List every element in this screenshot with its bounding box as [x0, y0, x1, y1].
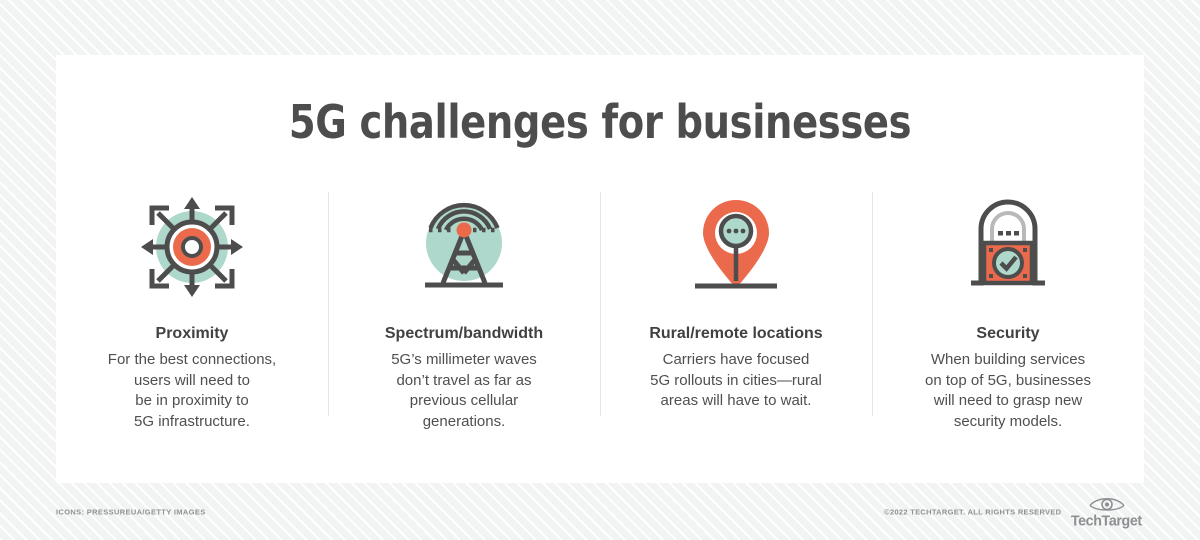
logo-wordmark: TechTarget	[1071, 514, 1142, 529]
techtarget-logo: TechTarget	[1069, 496, 1144, 529]
cell-tower-icon	[338, 192, 590, 302]
map-pin-search-icon	[610, 192, 862, 302]
column-heading: Security	[882, 324, 1134, 344]
infographic-root: 5G challenges for businesses	[0, 0, 1200, 540]
content-card: 5G challenges for businesses	[56, 55, 1144, 483]
column-body: 5G’s millimeter waves don’t travel as fa…	[338, 350, 590, 432]
proximity-signal-icon	[66, 192, 318, 302]
challenge-columns: Proximity For the best connections, user…	[56, 192, 1144, 432]
challenge-column-security: Security When building services on top o…	[872, 192, 1144, 432]
challenge-column-proximity: Proximity For the best connections, user…	[56, 192, 328, 432]
challenge-column-spectrum: Spectrum/bandwidth 5G’s millimeter waves…	[328, 192, 600, 432]
icon-credit: ICONS: PRESSUREUA/GETTY IMAGES	[56, 508, 206, 517]
column-body: Carriers have focused 5G rollouts in cit…	[610, 350, 862, 412]
eye-icon	[1087, 496, 1127, 513]
column-body: For the best connections, users will nee…	[66, 350, 318, 432]
column-heading: Proximity	[66, 324, 318, 344]
column-heading: Spectrum/bandwidth	[338, 324, 590, 344]
footer-right-group: ©2022 TECHTARGET. ALL RIGHTS RESERVED Te…	[884, 496, 1144, 529]
challenge-column-rural: Rural/remote locations Carriers have foc…	[600, 192, 872, 412]
page-title: 5G challenges for businesses	[94, 95, 1106, 149]
padlock-check-icon	[882, 192, 1134, 302]
column-body: When building services on top of 5G, bus…	[882, 350, 1134, 432]
copyright-notice: ©2022 TECHTARGET. ALL RIGHTS RESERVED	[884, 508, 1061, 517]
column-heading: Rural/remote locations	[610, 324, 862, 344]
